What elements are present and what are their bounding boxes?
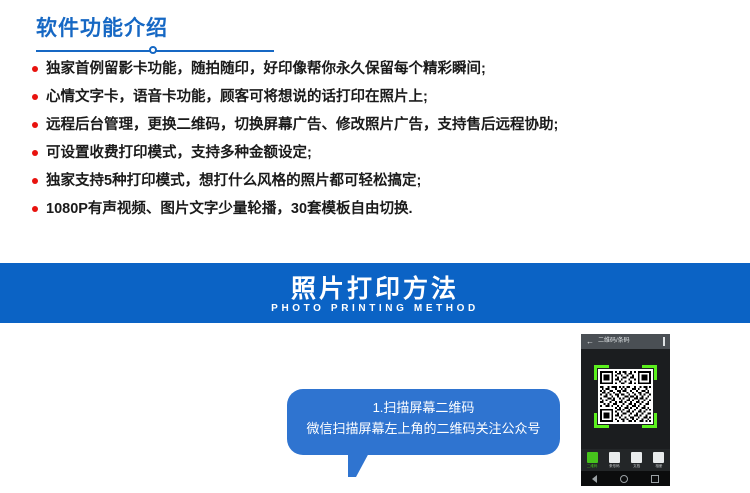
step-one-section: 1.扫描屏幕二维码 微信扫描屏幕左上角的二维码关注公众号 ← 二维码/条码	[0, 323, 750, 493]
list-item-label: 独家首例留影卡功能，随拍随印，好印像帮你永久保留每个精彩瞬间;	[46, 61, 486, 77]
toolbar-item-label: 文档	[629, 464, 645, 468]
list-item: 可设置收费打印模式，支持多种金额设定;	[30, 144, 730, 162]
document-icon	[631, 452, 642, 463]
phone-scan-mode-toolbar: 二维码 条形码 文档 相册	[581, 449, 670, 471]
toolbar-item-gallery[interactable]: 相册	[651, 452, 667, 468]
list-item: 远程后台管理，更换二维码，切换屏幕广告、修改照片广告，支持售后远程协助;	[30, 116, 730, 134]
title-underline-rule	[36, 46, 274, 56]
page-title: 软件功能介绍	[36, 12, 168, 42]
list-item-label: 心情文字卡，语音卡功能，顾客可将想说的话打印在照片上;	[46, 89, 428, 105]
list-item-label: 远程后台管理，更换二维码，切换屏幕广告、修改照片广告，支持售后远程协助;	[46, 117, 558, 133]
bullet-dot-icon	[32, 206, 38, 212]
list-item-label: 1080P有声视频、图片文字少量轮播，30套模板自由切换.	[46, 201, 413, 217]
list-item: 1080P有声视频、图片文字少量轮播，30套模板自由切换.	[30, 200, 730, 218]
toolbar-item-document[interactable]: 文档	[629, 452, 645, 468]
bubble-line-primary: 1.扫描屏幕二维码	[287, 399, 560, 417]
bubble-line-secondary: 微信扫描屏幕左上角的二维码关注公众号	[287, 420, 560, 438]
bullet-dot-icon	[32, 122, 38, 128]
list-item-label: 可设置收费打印模式，支持多种金额设定;	[46, 145, 312, 161]
gallery-icon	[653, 452, 664, 463]
list-item: 独家首例留影卡功能，随拍随印，好印像帮你永久保留每个精彩瞬间;	[30, 60, 730, 78]
bubble-tail-pointer	[348, 451, 370, 477]
qr-scan-frame	[594, 365, 657, 428]
step-instruction-bubble: 1.扫描屏幕二维码 微信扫描屏幕左上角的二维码关注公众号	[287, 389, 560, 455]
bullet-dot-icon	[32, 94, 38, 100]
print-method-banner: 照片打印方法 PHOTO PRINTING METHOD	[0, 263, 750, 323]
overflow-menu-icon[interactable]	[663, 337, 665, 346]
toolbar-item-qrcode[interactable]: 二维码	[584, 452, 600, 468]
toolbar-item-barcode[interactable]: 条形码	[606, 452, 622, 468]
back-arrow-icon[interactable]: ←	[586, 338, 593, 345]
list-item-label: 独家支持5种打印模式，想打什么风格的照片都可轻松搞定;	[46, 173, 421, 189]
phone-screenshot: ← 二维码/条码	[581, 334, 670, 486]
nav-back-triangle-icon[interactable]	[592, 475, 597, 483]
banner-title: 照片打印方法	[0, 269, 750, 305]
list-item: 心情文字卡，语音卡功能，顾客可将想说的话打印在照片上;	[30, 88, 730, 106]
phone-screen-title: 二维码/条码	[598, 337, 630, 346]
title-rule-circle-icon	[149, 46, 157, 54]
nav-home-circle-icon[interactable]	[620, 475, 628, 483]
toolbar-item-label: 条形码	[606, 464, 622, 468]
nav-recents-square-icon[interactable]	[651, 475, 659, 483]
toolbar-item-label: 二维码	[584, 464, 600, 468]
barcode-icon	[609, 452, 620, 463]
bullet-dot-icon	[32, 178, 38, 184]
toolbar-item-label: 相册	[651, 464, 667, 468]
qrcode-icon	[587, 452, 598, 463]
bullet-dot-icon	[32, 150, 38, 156]
software-features-section: 软件功能介绍 独家首例留影卡功能，随拍随印，好印像帮你永久保留每个精彩瞬间; 心…	[0, 0, 750, 255]
android-navigation-bar	[581, 471, 670, 486]
list-item: 独家支持5种打印模式，想打什么风格的照片都可轻松搞定;	[30, 172, 730, 190]
qr-scanner-viewfinder	[581, 349, 670, 449]
qr-code-image	[598, 369, 653, 424]
phone-app-bar: ← 二维码/条码	[581, 334, 670, 349]
feature-list: 独家首例留影卡功能，随拍随印，好印像帮你永久保留每个精彩瞬间; 心情文字卡，语音…	[30, 60, 730, 228]
bullet-dot-icon	[32, 66, 38, 72]
banner-subtitle: PHOTO PRINTING METHOD	[0, 303, 750, 314]
